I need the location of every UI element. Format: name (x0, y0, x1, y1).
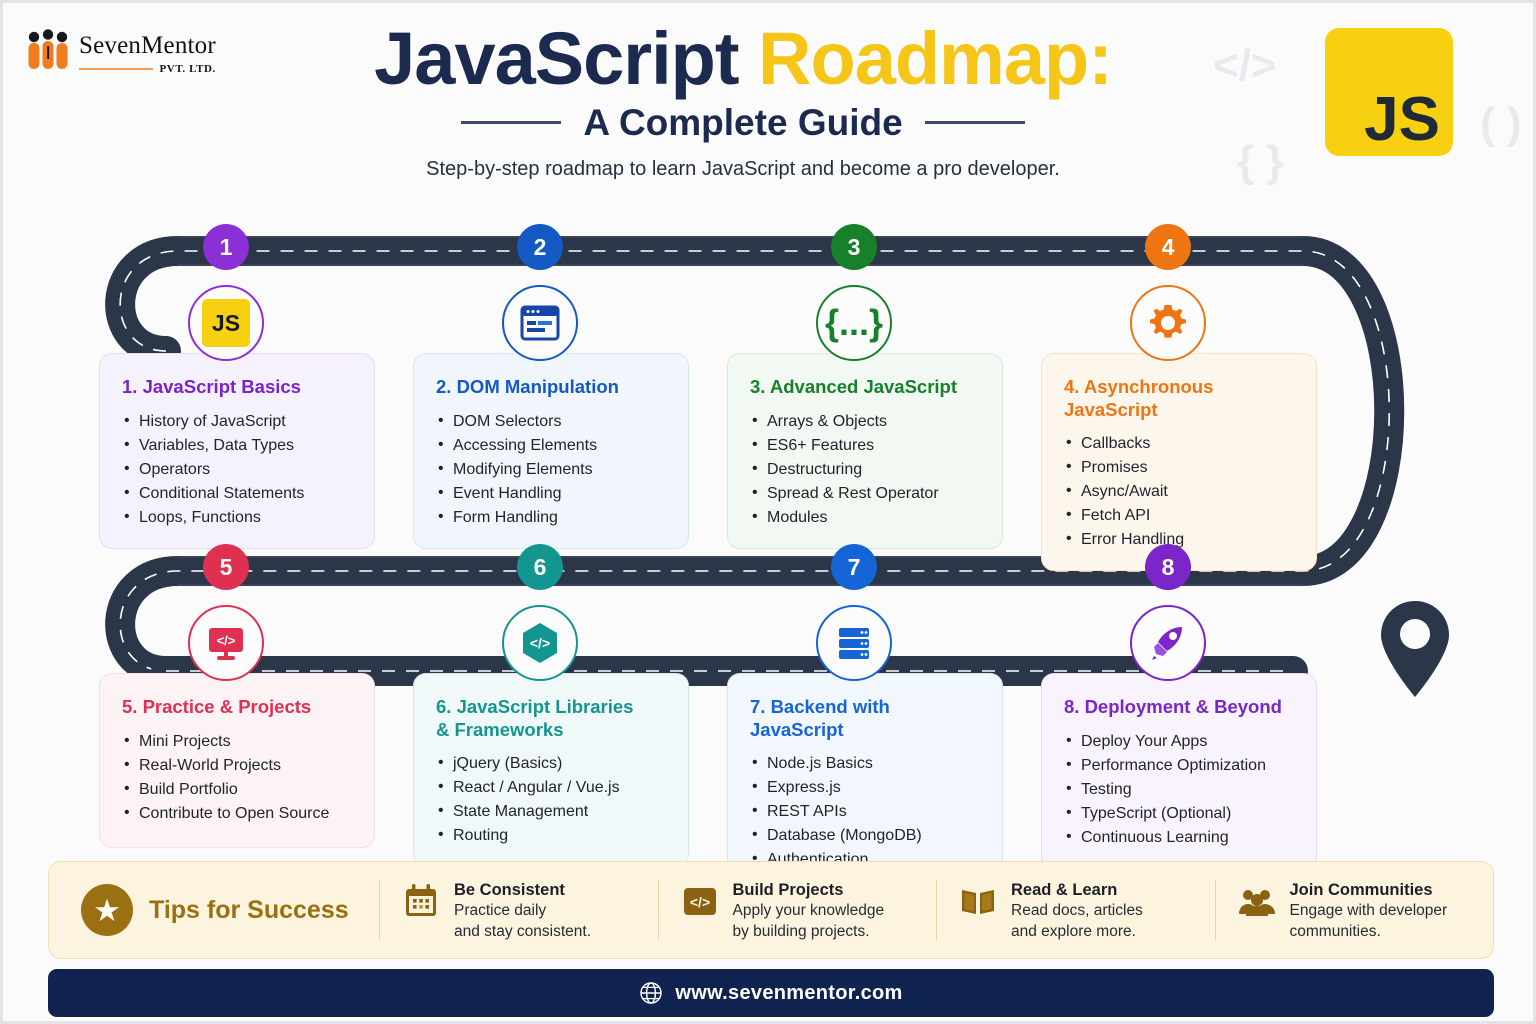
list-item: Variables, Data Types (122, 434, 356, 458)
website-url: www.sevenmentor.com (675, 982, 902, 1005)
list-item: React / Angular / Vue.js (436, 776, 670, 800)
list-item: Deploy Your Apps (1064, 730, 1298, 754)
step-number-badge-5: 5 (203, 544, 249, 590)
js-logo-badge: JS (1325, 28, 1453, 156)
curly-brace-glyph-icon: { } (1237, 137, 1283, 187)
step-title-2: 2. DOM Manipulation (436, 376, 670, 399)
infographic-canvas: SevenMentor PVT. LTD. JavaScript Roadmap… (0, 0, 1536, 1024)
list-item: Operators (122, 458, 356, 482)
step-list-8: Deploy Your Apps Performance Optimizatio… (1064, 730, 1298, 850)
parenthesis-glyph-icon: ( ) (1480, 99, 1522, 149)
list-item: Mini Projects (122, 730, 356, 754)
step-title-3: 3. Advanced JavaScript (750, 376, 984, 399)
list-item: Loops, Functions (122, 506, 356, 530)
hexagon-code-icon: </> (502, 605, 578, 681)
js-square-label: JS (202, 299, 250, 347)
step-card-body-2: 2. DOM Manipulation DOM Selectors Access… (413, 353, 689, 549)
step-card-body-8: 8. Deployment & Beyond Deploy Your Apps … (1041, 673, 1317, 869)
monitor-code-icon: </> (188, 605, 264, 681)
list-item: Fetch API (1064, 504, 1298, 528)
step-list-3: Arrays & Objects ES6+ Features Destructu… (750, 410, 984, 530)
tip-be-consistent: Be Consistent Practice daily and stay co… (379, 880, 658, 940)
step-title-6: 6. JavaScript Libraries & Frameworks (436, 696, 670, 741)
step-list-1: History of JavaScript Variables, Data Ty… (122, 410, 356, 530)
gear-icon (1130, 285, 1206, 361)
step-title-4: 4. Asynchronous JavaScript (1064, 376, 1298, 421)
globe-icon (639, 981, 663, 1005)
js-logo-text: JS (1364, 91, 1453, 156)
tip-line-1: Read docs, articles (1011, 901, 1143, 921)
logo-name: SevenMentor (79, 33, 216, 58)
server-stack-icon (816, 605, 892, 681)
step-card-7[interactable]: 7 7. Backend with JavaScript Node.js Bas… (727, 673, 1041, 891)
step-card-body-7: 7. Backend with JavaScript Node.js Basic… (727, 673, 1003, 891)
subtitle-rule-right (925, 121, 1025, 124)
step-number-badge-6: 6 (517, 544, 563, 590)
tip-read-learn: Read & Learn Read docs, articles and exp… (936, 880, 1215, 940)
step-title-7: 7. Backend with JavaScript (750, 696, 984, 741)
step-card-body-5: 5. Practice & Projects Mini Projects Rea… (99, 673, 375, 848)
tip-line-1: Engage with developer (1290, 901, 1448, 921)
step-title-5: 5. Practice & Projects (122, 696, 356, 719)
open-book-icon (959, 882, 997, 920)
list-item: Spread & Rest Operator (750, 482, 984, 506)
page-subtitle-row: A Complete Guide (303, 102, 1183, 144)
tip-line-1: Practice daily (454, 901, 591, 921)
step-list-5: Mini Projects Real-World Projects Build … (122, 730, 356, 826)
svg-text:</>: </> (530, 635, 550, 651)
step-list-4: Callbacks Promises Async/Await Fetch API… (1064, 432, 1298, 552)
step-card-body-4: 4. Asynchronous JavaScript Callbacks Pro… (1041, 353, 1317, 571)
list-item: Express.js (750, 776, 984, 800)
list-item: Contribute to Open Source (122, 802, 356, 826)
list-item: History of JavaScript (122, 410, 356, 434)
logo-subtitle: PVT. LTD. (159, 63, 215, 75)
tip-line-2: by building projects. (733, 922, 885, 942)
list-item: Continuous Learning (1064, 826, 1298, 850)
tip-join-communities: Join Communities Engage with developer c… (1215, 880, 1494, 940)
logo-divider (79, 68, 153, 70)
list-item: Event Handling (436, 482, 670, 506)
rocket-icon (1130, 605, 1206, 681)
tip-line-2: communities. (1290, 922, 1448, 942)
step-card-body-1: 1. JavaScript Basics History of JavaScri… (99, 353, 375, 549)
tips-for-success-bar: ★ Tips for Success Be Consistent Practic… (48, 861, 1494, 959)
step-number-badge-4: 4 (1145, 224, 1191, 270)
page-tagline: Step-by-step roadmap to learn JavaScript… (303, 158, 1183, 181)
title-part-1: JavaScript (374, 17, 758, 100)
code-brackets-icon: </> (681, 882, 719, 920)
browser-window-icon (502, 285, 578, 361)
tip-line-2: and stay consistent. (454, 922, 591, 942)
list-item: Performance Optimization (1064, 754, 1298, 778)
svg-text:</>: </> (689, 894, 709, 910)
list-item: ES6+ Features (750, 434, 984, 458)
step-title-8: 8. Deployment & Beyond (1064, 696, 1298, 719)
tip-title: Join Communities (1290, 880, 1448, 901)
header-block: JavaScript Roadmap: A Complete Guide Ste… (303, 21, 1183, 181)
list-item: Accessing Elements (436, 434, 670, 458)
list-item: Destructuring (750, 458, 984, 482)
page-title: JavaScript Roadmap: (303, 21, 1183, 98)
step-card-4[interactable]: 4 4. Asynchronous JavaScript Callbacks P… (1041, 353, 1355, 571)
list-item: REST APIs (750, 800, 984, 824)
step-number-badge-2: 2 (517, 224, 563, 270)
step-title-1: 1. JavaScript Basics (122, 376, 356, 399)
step-card-8[interactable]: 8 8. Deployment & Beyond Deploy Your App… (1041, 673, 1355, 891)
roadmap-row-2: 5 </> 5. Practice & Projects Mini Projec… (3, 673, 1536, 891)
list-item: DOM Selectors (436, 410, 670, 434)
subtitle-rule-left (461, 121, 561, 124)
step-number-badge-1: 1 (203, 224, 249, 270)
step-number-badge-7: 7 (831, 544, 877, 590)
tip-line-1: Apply your knowledge (733, 901, 885, 921)
step-list-2: DOM Selectors Accessing Elements Modifyi… (436, 410, 670, 530)
angle-bracket-glyph-icon: </> (1213, 41, 1277, 91)
list-item: Arrays & Objects (750, 410, 984, 434)
list-item: Build Portfolio (122, 778, 356, 802)
tip-title: Be Consistent (454, 880, 591, 901)
list-item: Routing (436, 824, 670, 848)
tip-line-2: and explore more. (1011, 922, 1143, 942)
step-card-3[interactable]: 3 {...} 3. Advanced JavaScript Arrays & … (727, 353, 1041, 571)
list-item: Modifying Elements (436, 458, 670, 482)
tip-build-projects: </> Build Projects Apply your knowledge … (658, 880, 937, 940)
three-people-icon (25, 29, 71, 73)
list-item: State Management (436, 800, 670, 824)
step-list-7: Node.js Basics Express.js REST APIs Data… (750, 752, 984, 872)
step-list-6: jQuery (Basics) React / Angular / Vue.js… (436, 752, 670, 848)
curly-braces-glyph: {...} (825, 305, 883, 341)
list-item: Node.js Basics (750, 752, 984, 776)
step-card-body-6: 6. JavaScript Libraries & Frameworks jQu… (413, 673, 689, 867)
list-item: Modules (750, 506, 984, 530)
tips-heading-group: ★ Tips for Success (49, 884, 379, 936)
step-number-badge-3: 3 (831, 224, 877, 270)
page-subtitle: A Complete Guide (583, 102, 902, 144)
step-card-1[interactable]: 1 JS 1. JavaScript Basics History of Jav… (99, 353, 413, 571)
curly-braces-icon: {...} (816, 285, 892, 361)
list-item: jQuery (Basics) (436, 752, 670, 776)
list-item: Promises (1064, 456, 1298, 480)
star-icon: ★ (81, 884, 133, 936)
js-square-icon: JS (188, 285, 264, 361)
list-item: Real-World Projects (122, 754, 356, 778)
roadmap-row-1: 1 JS 1. JavaScript Basics History of Jav… (3, 353, 1536, 571)
step-card-body-3: 3. Advanced JavaScript Arrays & Objects … (727, 353, 1003, 549)
calendar-icon (402, 882, 440, 920)
step-card-6[interactable]: 6 </> 6. JavaScript Libraries & Framewor… (413, 673, 727, 891)
brand-logo: SevenMentor PVT. LTD. (25, 29, 216, 75)
step-card-2[interactable]: 2 2. DOM Manipulation DOM Selectors Acce… (413, 353, 727, 571)
tip-title: Build Projects (733, 880, 885, 901)
list-item: Database (MongoDB) (750, 824, 984, 848)
tip-title: Read & Learn (1011, 880, 1143, 901)
svg-text:</>: </> (217, 633, 236, 648)
people-group-icon (1238, 882, 1276, 920)
step-number-badge-8: 8 (1145, 544, 1191, 590)
step-card-5[interactable]: 5 </> 5. Practice & Projects Mini Projec… (99, 673, 413, 891)
list-item: Form Handling (436, 506, 670, 530)
list-item: Async/Await (1064, 480, 1298, 504)
list-item: Conditional Statements (122, 482, 356, 506)
footer-bar: www.sevenmentor.com (48, 969, 1494, 1017)
tips-heading: Tips for Success (149, 896, 349, 925)
list-item: Testing (1064, 778, 1298, 802)
list-item: Callbacks (1064, 432, 1298, 456)
list-item: TypeScript (Optional) (1064, 802, 1298, 826)
title-part-2: Roadmap: (758, 17, 1112, 100)
